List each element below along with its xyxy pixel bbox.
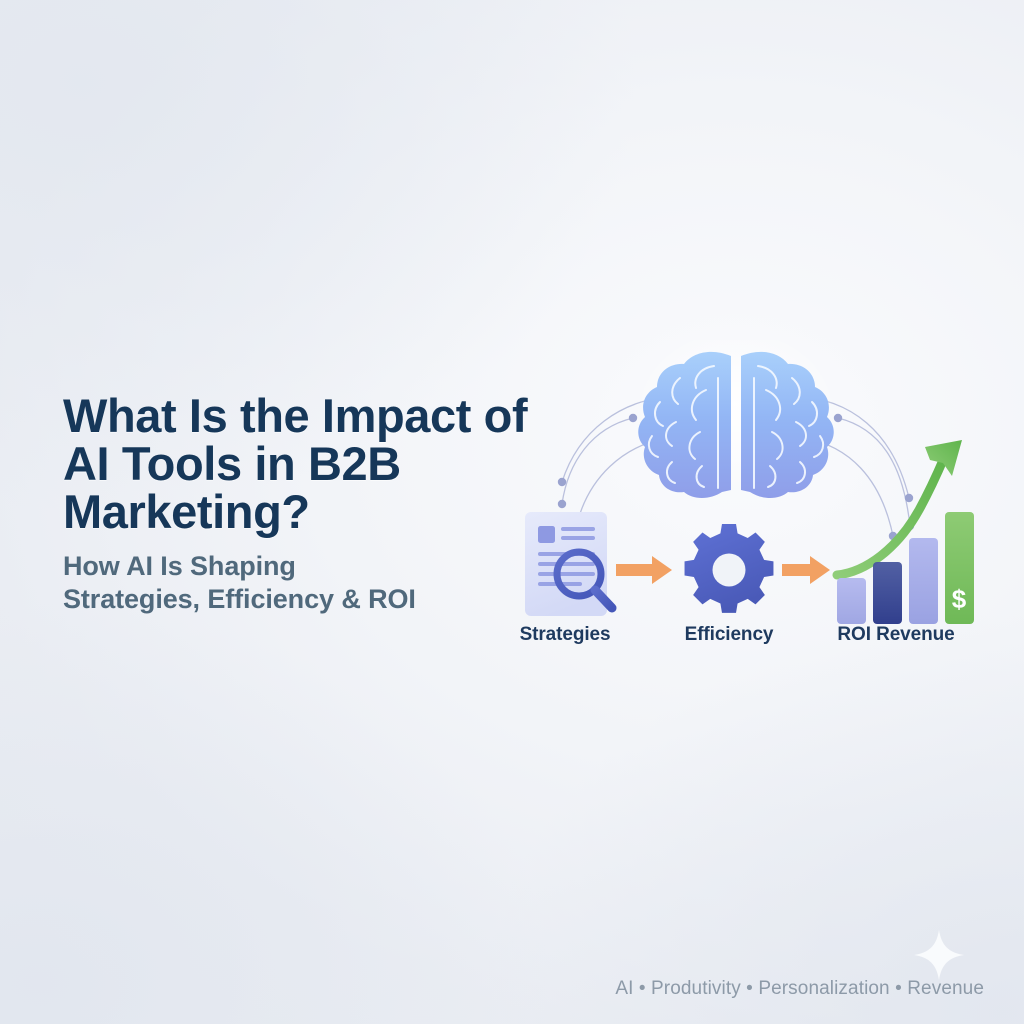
bar-1	[837, 578, 866, 624]
step-label-roi-revenue: ROI Revenue	[837, 624, 954, 646]
subhead-line-2: Strategies, Efficiency & ROI	[63, 584, 416, 614]
dollar-label: $	[952, 584, 967, 614]
page-subtitle: How AI Is ShapingStrategies, Efficiency …	[63, 550, 563, 616]
headline-line-3: Marketing?	[63, 485, 310, 538]
subhead-line-1: How AI Is Shaping	[63, 551, 296, 581]
bar-3	[909, 538, 938, 624]
step-label-efficiency: Efficiency	[685, 624, 774, 646]
poster-canvas: What Is the Impact ofAI Tools in B2BMark…	[0, 0, 1024, 1024]
sparkle-icon	[912, 928, 966, 982]
brain-icon	[638, 340, 834, 498]
bar-chart-growth-icon: $	[837, 440, 974, 624]
growth-arrow-icon	[837, 440, 962, 575]
arrow-right-icon-2	[782, 556, 830, 584]
page-title: What Is the Impact ofAI Tools in B2BMark…	[63, 392, 563, 536]
step-labels: Strategies Efficiency ROI Revenue	[500, 624, 1010, 658]
headline-block: What Is the Impact ofAI Tools in B2BMark…	[63, 392, 563, 616]
arrow-right-icon-1	[616, 556, 672, 584]
footer: AI • Produtivity • Personalization • Rev…	[615, 978, 984, 1000]
gear-icon	[685, 524, 774, 613]
ai-flow-diagram: $	[500, 340, 1010, 660]
bar-2	[873, 562, 902, 624]
headline-line-1: What Is the Impact of	[63, 389, 527, 442]
headline-line-2: AI Tools in B2B	[63, 437, 401, 490]
step-label-strategies: Strategies	[520, 624, 611, 646]
